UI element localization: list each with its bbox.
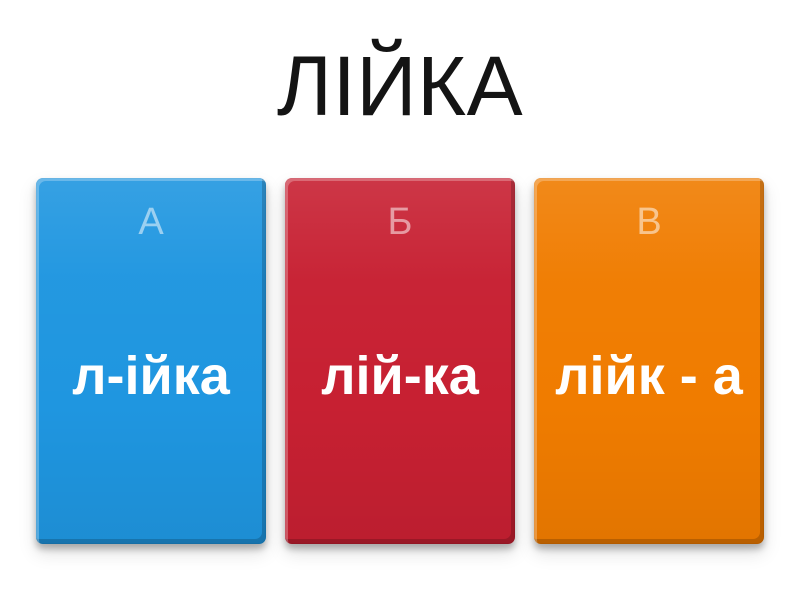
answer-letter-a: А	[36, 200, 266, 244]
answer-options-row: А л-ійка Б лій-ка В лійк - а	[36, 178, 764, 544]
answer-card-b[interactable]: Б лій-ка	[285, 178, 515, 544]
answer-card-a[interactable]: А л-ійка	[36, 178, 266, 544]
answer-card-c[interactable]: В лійк - а	[534, 178, 764, 544]
question-title: ЛІЙКА	[0, 38, 800, 134]
quiz-screen: ЛІЙКА А л-ійка Б лій-ка В лійк - а	[0, 0, 800, 600]
answer-text-a: л-ійка	[50, 272, 252, 480]
answer-text-c: лійк - а	[548, 272, 750, 480]
answer-letter-b: Б	[285, 200, 515, 244]
answer-letter-c: В	[534, 200, 764, 244]
answer-text-b: лій-ка	[299, 272, 501, 480]
